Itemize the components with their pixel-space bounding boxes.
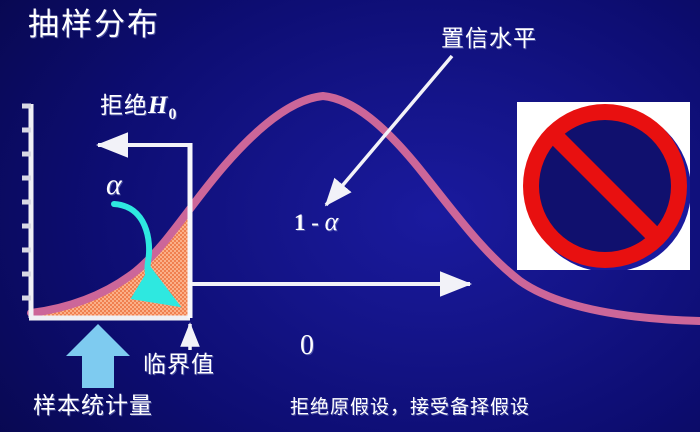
one-minus-prefix: 1 - [294,210,325,235]
sample-statistic-label: 样本统计量 [33,386,153,420]
reject-h0-subscript: 0 [168,106,177,123]
page-title: 抽样分布 [28,6,160,43]
y-axis [22,104,31,318]
reject-h0-label: 拒绝H0 [100,86,177,124]
reject-h0-symbol: H0 [148,92,177,119]
no-entry-sign [517,102,690,270]
reject-h0-prefix: 拒绝 [100,92,148,118]
zero-axis-label: 0 [300,330,314,362]
conclusion-label: 拒绝原假设，接受备择假设 [290,392,530,419]
one-minus-alpha-label: 1 - α [294,207,338,237]
slide-canvas: 抽样分布 拒绝H0 置信水平 α 1 - α 临界值 样本统计量 0 拒绝原假设… [0,0,700,432]
one-minus-alpha-symbol: α [325,207,339,236]
up-block-arrow-icon [66,324,130,388]
no-entry-icon [517,102,690,270]
confidence-level-label: 置信水平 [441,19,537,53]
critical-value-label: 临界值 [143,345,215,379]
alpha-label: α [106,168,122,202]
